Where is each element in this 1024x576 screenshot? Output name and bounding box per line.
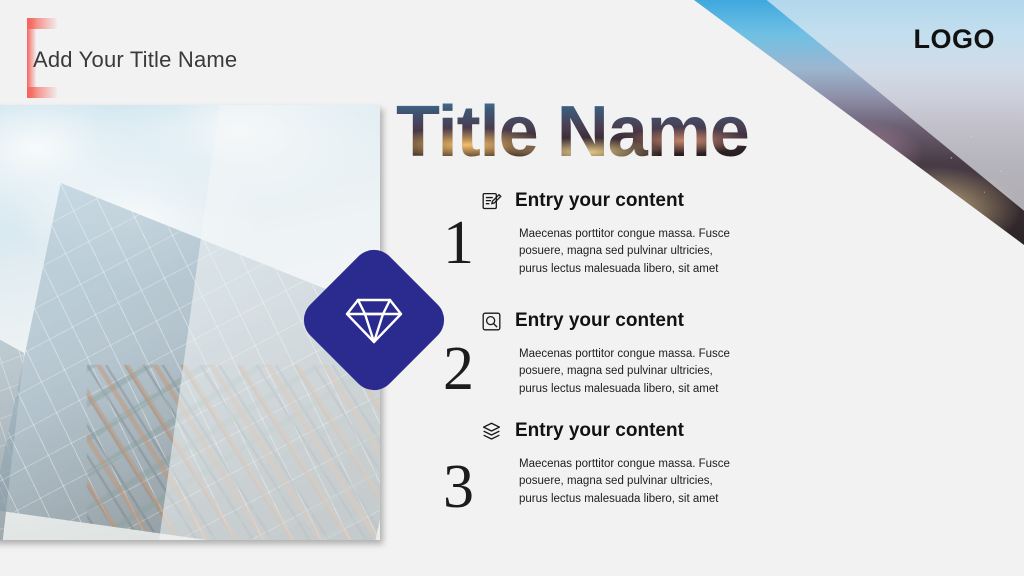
entry-number: 2 [443,338,474,400]
entry-number: 1 [443,212,474,274]
presentation-slide: Add Your Title Name LOGO Title Name 1 [0,0,1024,576]
note-edit-icon [481,191,502,212]
logo-text: LOGO [914,24,996,55]
entry-header: Entry your content [481,190,684,212]
entry-header: Entry your content [481,420,684,442]
entry-number: 3 [443,456,474,518]
page-title: Title Name [396,96,749,168]
entry-body: Maecenas porttitor congue massa. Fusce p… [519,456,741,508]
entry-heading: Entry your content [515,420,684,442]
entry-body: Maecenas porttitor congue massa. Fusce p… [519,346,741,398]
search-icon [481,311,502,332]
entry-heading: Entry your content [515,310,684,332]
diamond-icon [345,294,403,346]
entry-heading: Entry your content [515,190,684,212]
layers-icon [481,421,502,442]
slide-subtitle: Add Your Title Name [33,47,237,73]
entry-header: Entry your content [481,310,684,332]
entry-body: Maecenas porttitor congue massa. Fusce p… [519,226,741,278]
